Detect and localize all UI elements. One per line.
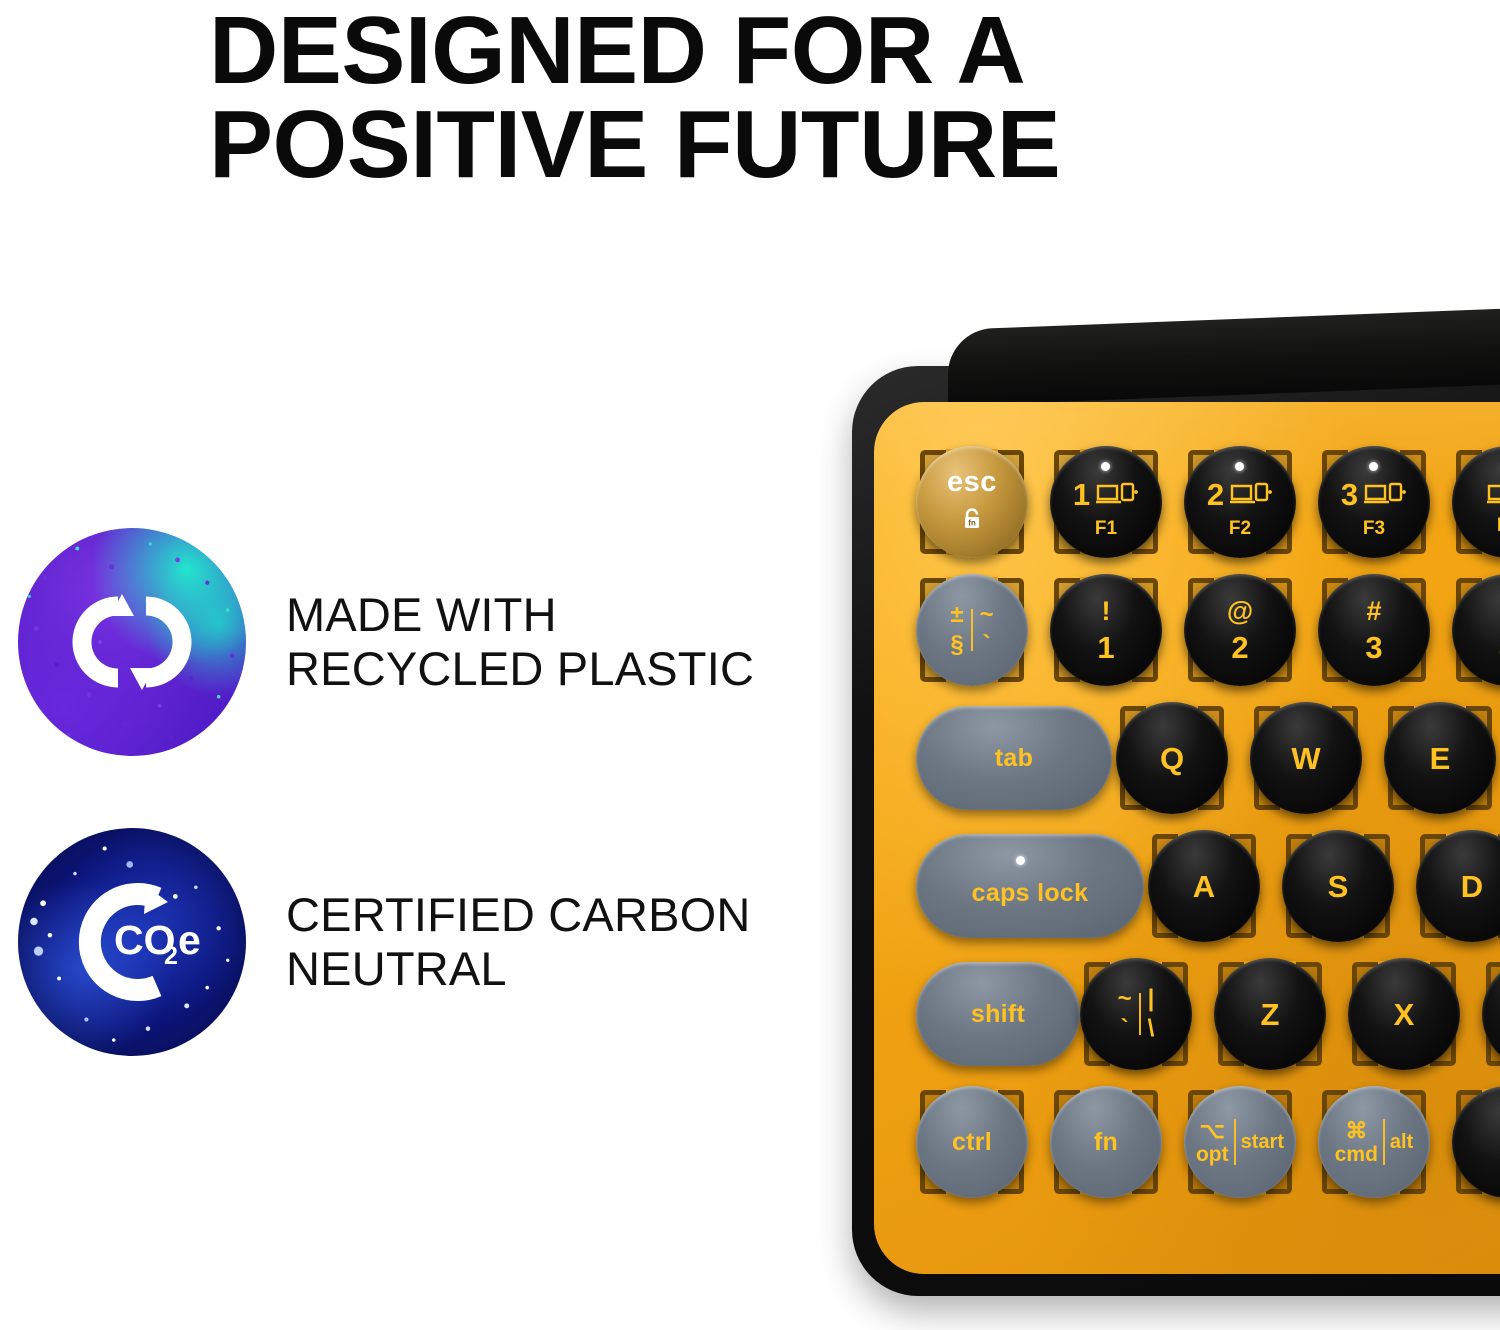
led-indicator (1369, 462, 1378, 471)
key-esc-label: esc (947, 468, 997, 497)
key-section-bottom-left: § (950, 633, 963, 657)
key-d-label: D (1461, 871, 1483, 902)
key-backslash-top-left: ~ (1118, 987, 1132, 1011)
badge-recycled-line-1: MADE WITH (286, 588, 754, 642)
device-switch-icon: 2 (1207, 479, 1273, 510)
legend-divider (971, 609, 973, 651)
key-f2[interactable]: 2 F2 (1184, 446, 1296, 558)
key-backslash[interactable]: ~ ` | \ (1080, 958, 1192, 1070)
page-headline: DESIGNED FOR A POSITIVE FUTURE (209, 4, 1329, 192)
key-area: esc fn 1 (852, 330, 1500, 1330)
key-f1[interactable]: 1 F1 (1050, 446, 1162, 558)
key-backslash-bottom-left: ` (1121, 1017, 1129, 1041)
key-alt-label: alt (1390, 1132, 1413, 1152)
badge-recycled-label: MADE WITH RECYCLED PLASTIC (286, 588, 754, 695)
headline-line-1: DESIGNED FOR A (209, 4, 1329, 98)
key-e[interactable]: E (1384, 702, 1496, 814)
legend-divider (1234, 1119, 1236, 1165)
svg-text:2: 2 (164, 942, 178, 970)
key-start-label: start (1241, 1132, 1284, 1152)
key-z-label: Z (1261, 999, 1280, 1030)
key-2[interactable]: @ 2 (1184, 574, 1296, 686)
key-e-label: E (1430, 743, 1451, 774)
pop-keys-keyboard: esc fn 1 (852, 330, 1500, 1330)
svg-text:fn: fn (968, 518, 976, 527)
led-indicator (1235, 462, 1244, 471)
key-a-label: A (1193, 871, 1215, 902)
key-shift-label: shift (971, 1002, 1025, 1027)
key-f1-flabel: F1 (1095, 519, 1117, 538)
legend-divider (1383, 1119, 1385, 1165)
key-w-label: W (1291, 743, 1320, 774)
key-ctrl-label: ctrl (952, 1130, 992, 1155)
key-s[interactable]: S (1282, 830, 1394, 942)
key-3-base: 3 (1365, 632, 1382, 663)
led-indicator (1016, 856, 1025, 865)
led-indicator (1101, 462, 1110, 471)
key-section[interactable]: ± § ~ ` (916, 574, 1028, 686)
key-cmd-label: cmd (1335, 1144, 1378, 1165)
key-esc[interactable]: esc fn (916, 446, 1028, 558)
svg-text:e: e (178, 917, 201, 963)
key-q[interactable]: Q (1116, 702, 1228, 814)
key-tab[interactable]: tab (916, 706, 1112, 810)
key-3-shifted: # (1366, 598, 1381, 625)
key-z[interactable]: Z (1214, 958, 1326, 1070)
key-2-base: 2 (1231, 632, 1248, 663)
recycling-loop-icon (18, 528, 246, 756)
badge-recycled-plastic: MADE WITH RECYCLED PLASTIC (18, 528, 754, 756)
fn-lock-icon: fn (959, 506, 985, 537)
key-f2-flabel: F2 (1229, 519, 1251, 538)
key-backslash-bottom-right: \ (1148, 1017, 1155, 1041)
carbon-c-icon: CO 2 e (18, 828, 246, 1056)
device-switch-icon: 1 (1073, 479, 1139, 510)
key-x-label: X (1394, 999, 1415, 1030)
key-1-base: 1 (1097, 632, 1114, 663)
key-x[interactable]: X (1348, 958, 1460, 1070)
legend-divider (1139, 993, 1141, 1035)
key-caps-lock-label: caps lock (972, 881, 1089, 906)
option-glyph-icon: ⌥ (1200, 1120, 1225, 1142)
key-ctrl[interactable]: ctrl (916, 1086, 1028, 1198)
key-f2-number: 2 (1207, 479, 1224, 510)
key-cmd-alt[interactable]: ⌘ cmd alt (1318, 1086, 1430, 1198)
key-section-top-left: ± (950, 603, 963, 627)
key-caps-lock[interactable]: caps lock (916, 834, 1144, 938)
device-switch-icon (1486, 481, 1500, 507)
command-glyph-icon: ⌘ (1345, 1120, 1367, 1142)
key-section-bottom-right: ` (983, 633, 991, 657)
badge-carbon-line-1: CERTIFIED CARBON (286, 888, 751, 942)
key-f3-flabel: F3 (1363, 519, 1385, 538)
badge-carbon-line-2: NEUTRAL (286, 942, 751, 996)
key-1[interactable]: ! 1 (1050, 574, 1162, 686)
key-section-top-right: ~ (980, 603, 994, 627)
key-fn[interactable]: fn (1050, 1086, 1162, 1198)
key-f1-number: 1 (1073, 479, 1090, 510)
key-a[interactable]: A (1148, 830, 1260, 942)
key-s-label: S (1328, 871, 1349, 902)
device-switch-icon: 3 (1341, 479, 1407, 510)
key-3[interactable]: # 3 (1318, 574, 1430, 686)
key-f3[interactable]: 3 F3 (1318, 446, 1430, 558)
key-q-label: Q (1160, 743, 1184, 774)
key-1-shifted: ! (1102, 598, 1111, 625)
key-opt-start[interactable]: ⌥ opt start (1184, 1086, 1296, 1198)
key-opt-label: opt (1196, 1144, 1229, 1165)
key-fn-label: fn (1094, 1130, 1118, 1155)
key-2-shifted: @ (1227, 598, 1253, 625)
key-shift[interactable]: shift (916, 962, 1080, 1066)
headline-line-2: POSITIVE FUTURE (209, 98, 1329, 192)
key-tab-label: tab (995, 746, 1033, 771)
key-f3-number: 3 (1341, 479, 1358, 510)
badge-recycled-line-2: RECYCLED PLASTIC (286, 642, 754, 696)
key-backslash-top-right: | (1148, 987, 1155, 1011)
key-w[interactable]: W (1250, 702, 1362, 814)
badge-carbon-label: CERTIFIED CARBON NEUTRAL (286, 888, 751, 995)
badge-carbon-neutral: CO 2 e CERTIFIED CARBON NEUTRAL (18, 828, 751, 1056)
